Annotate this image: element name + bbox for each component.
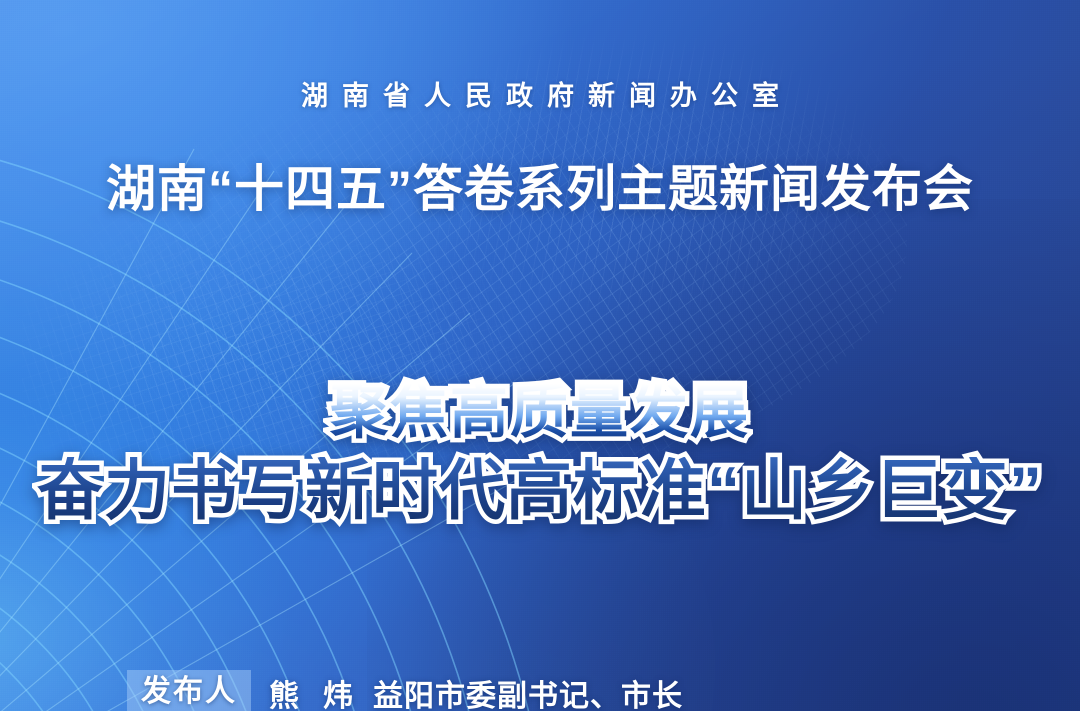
page-title: 湖南“十四五”答卷系列主题新闻发布会 bbox=[0, 160, 1080, 218]
headline-line-2: 奋力书写新时代高标准“山乡巨变” 奋力书写新时代高标准“山乡巨变” bbox=[0, 457, 1080, 523]
press-conference-poster: 湖南省人民政府新闻办公室 湖南“十四五”答卷系列主题新闻发布会 聚焦高质量发展 … bbox=[0, 0, 1080, 711]
speaker-name: 熊炜 bbox=[269, 671, 355, 711]
issuing-authority: 湖南省人民政府新闻办公室 bbox=[0, 74, 1080, 113]
headline-line-2-fill: 奋力书写新时代高标准“山乡巨变” bbox=[37, 457, 1043, 523]
speaker-row: 发布人 熊炜 益阳市委副书记、市长 bbox=[127, 670, 683, 711]
speaker-badge: 发布人 bbox=[127, 670, 251, 711]
headline-line-1-fill: 聚焦高质量发展 bbox=[330, 384, 750, 442]
headline-line-1: 聚焦高质量发展 聚焦高质量发展 bbox=[0, 384, 1080, 442]
speaker-position: 益阳市委副书记、市长 bbox=[373, 671, 683, 711]
speaker-given-name: 炜 bbox=[323, 680, 355, 711]
speaker-surname: 熊 bbox=[269, 680, 301, 711]
poster-content: 湖南省人民政府新闻办公室 湖南“十四五”答卷系列主题新闻发布会 聚焦高质量发展 … bbox=[0, 0, 1080, 711]
